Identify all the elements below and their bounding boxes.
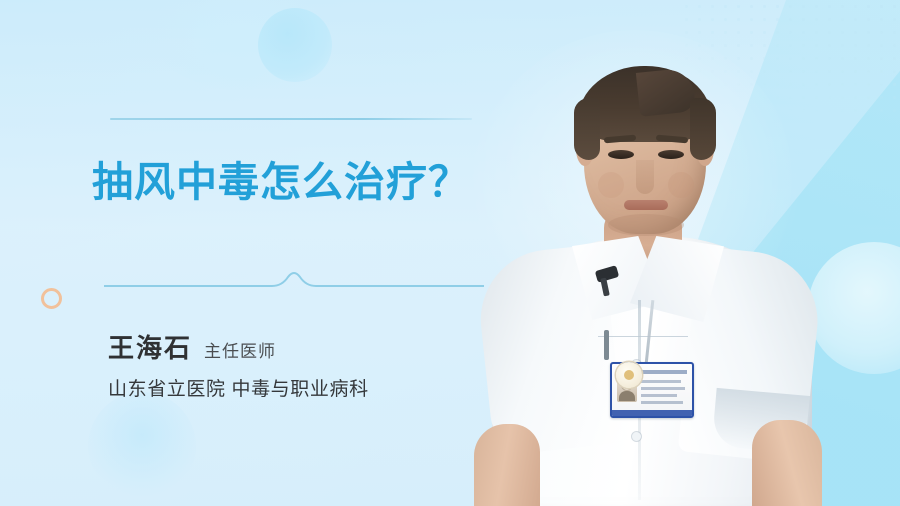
- emblem-center: [624, 370, 634, 380]
- hair-part: [636, 67, 696, 117]
- wave-divider: [104, 268, 484, 294]
- pocket-pen-icon: [604, 330, 609, 360]
- mouth: [624, 200, 668, 210]
- text-block: 抽风中毒怎么治疗？ 王海石 主任医师 山东省立医院 中毒与职业病科: [0, 0, 540, 506]
- cover-canvas: 抽风中毒怎么治疗？ 王海石 主任医师 山东省立医院 中毒与职业病科: [0, 0, 900, 506]
- cheek-right: [668, 172, 694, 198]
- chin-shadow: [608, 214, 684, 236]
- badge-text-line-3: [641, 394, 677, 397]
- badge-photo-body: [619, 391, 635, 401]
- nose: [636, 160, 654, 194]
- badge-header-line: [641, 370, 687, 374]
- badge-text-line-4: [641, 401, 683, 404]
- cheek-left: [598, 172, 624, 198]
- doctor-identity: 王海石 主任医师: [108, 328, 276, 365]
- top-divider: [110, 118, 472, 120]
- hair-side-right: [690, 98, 716, 160]
- eye-left: [608, 150, 634, 159]
- eye-right: [658, 150, 684, 159]
- hair-side-left: [574, 98, 600, 160]
- doctor-name: 王海石: [108, 328, 192, 365]
- page-title: 抽风中毒怎么治疗？: [92, 158, 522, 206]
- badge-text-line-2: [641, 387, 685, 390]
- doctor-organization: 山东省立医院 中毒与职业病科: [108, 374, 369, 401]
- badge-text-line-1: [641, 380, 681, 383]
- doctor-rank: 主任医师: [204, 337, 276, 362]
- badge-bottom-bar: [612, 410, 692, 416]
